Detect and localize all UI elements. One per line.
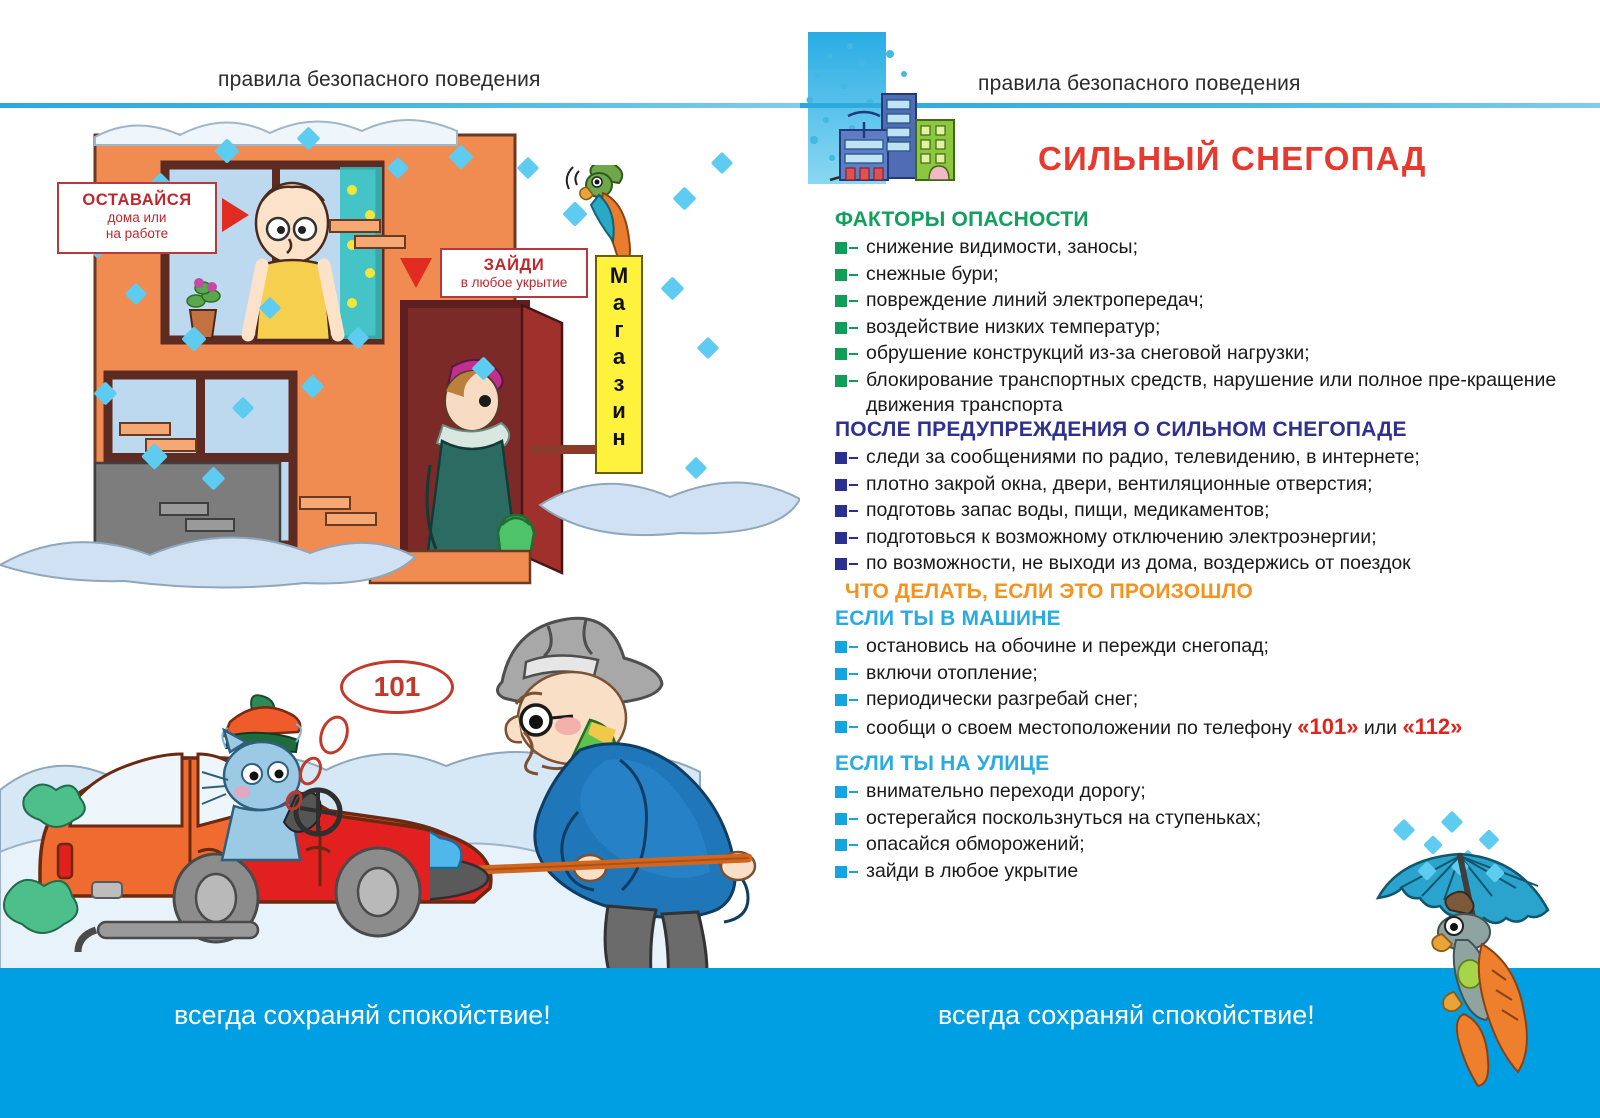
- list-item-text: зайди в любое укрытие: [866, 860, 1078, 882]
- list-item: включи отопление;: [835, 661, 1575, 687]
- man-with-shovel-svg: [430, 600, 800, 1000]
- callout-arrow-down-icon: [400, 258, 432, 288]
- list-item-text: подготовь запас воды, пищи, медикаментов…: [866, 499, 1270, 521]
- list-item-text: включи отопление;: [866, 662, 1038, 684]
- bullet-icon: [835, 694, 847, 706]
- callout-stay-home: ОСТАВАЙСЯ дома или на работе: [57, 182, 217, 254]
- list-item-text: воздействие низких температур;: [866, 316, 1160, 338]
- list-item: повреждение линий электропередач;: [835, 288, 1575, 314]
- list-item-text: внимательно переходи дорогу;: [866, 780, 1146, 802]
- bullet-dash-icon: [849, 274, 858, 276]
- callout-arrow-right-icon: [222, 198, 249, 232]
- bullet-icon: [835, 668, 847, 680]
- callout-stay-home-line1: ОСТАВАЙСЯ: [71, 191, 203, 210]
- list-item: по возможности, не выходи из дома, возде…: [835, 551, 1575, 577]
- bullet-dash-icon: [849, 353, 858, 355]
- section-danger-factors: ФАКТОРЫ ОПАСНОСТИ снижение видимости, за…: [835, 208, 1575, 420]
- right-page-header: правила безопасного поведения: [978, 72, 1301, 96]
- list-item: обрушение конструкций из-за снеговой наг…: [835, 341, 1575, 367]
- bullet-icon: [835, 786, 847, 798]
- left-footer-banner: [0, 968, 800, 1118]
- bullet-dash-icon: [849, 457, 858, 459]
- bullet-icon: [835, 375, 847, 387]
- list-item-text: повреждение линий электропередач;: [866, 289, 1204, 311]
- shop-sign: Магазин: [595, 255, 643, 474]
- bullet-icon: [835, 813, 847, 825]
- shop-sign-text: Магазин: [606, 263, 633, 452]
- section-what-to-do-heading: ЧТО ДЕЛАТЬ, ЕСЛИ ЭТО ПРОИЗОШЛО: [845, 580, 1575, 604]
- list-item-text: опасайся обморожений;: [866, 833, 1085, 855]
- list-item: воздействие низких температур;: [835, 315, 1575, 341]
- list-item: периодически разгребай снег;: [835, 687, 1575, 713]
- left-footer-text: всегда сохраняй спокойствие!: [174, 1000, 551, 1031]
- callout-enter-shelter: ЗАЙДИ в любое укрытие: [440, 248, 588, 298]
- list-item-text: плотно закрой окна, двери, вентиляционны…: [866, 473, 1373, 495]
- emergency-number-101: «101»: [1297, 714, 1358, 739]
- bullet-icon: [835, 866, 847, 878]
- callout-stay-home-line2: дома или: [71, 210, 203, 226]
- list-item: плотно закрой окна, двери, вентиляционны…: [835, 472, 1575, 498]
- parrot-with-umbrella-icon: [1356, 798, 1586, 1088]
- list-item: подготовь запас воды, пищи, медикаментов…: [835, 498, 1575, 524]
- list-item: остановись на обочине и пережди снегопад…: [835, 634, 1575, 660]
- list-item-text: периодически разгребай снег;: [866, 688, 1138, 710]
- callout-stay-home-line3: на работе: [71, 226, 203, 242]
- list-item-text: обрушение конструкций из-за снеговой наг…: [866, 342, 1310, 364]
- bullet-dash-icon: [849, 871, 858, 873]
- list-item-text: блокирование транспортных средств, наруш…: [866, 369, 1556, 417]
- list-item: блокирование транспортных средств, наруш…: [835, 368, 1575, 419]
- left-page-header: правила безопасного поведения: [218, 68, 541, 92]
- bullet-icon: [835, 532, 847, 544]
- section-after-warning-list: следи за сообщениями по радио, телевиден…: [835, 445, 1575, 577]
- page-title: СИЛЬНЫЙ СНЕГОПАД: [1038, 140, 1427, 178]
- list-item: снежные бури;: [835, 262, 1575, 288]
- list-item-text: снежные бури;: [866, 263, 999, 285]
- section-danger-factors-heading: ФАКТОРЫ ОПАСНОСТИ: [835, 208, 1575, 232]
- list-item-text: подготовься к возможному отключению элек…: [866, 526, 1377, 548]
- bullet-icon: [835, 242, 847, 254]
- bullet-dash-icon: [849, 510, 858, 512]
- list-item: снижение видимости, заносы;: [835, 235, 1575, 261]
- callout-enter-shelter-line1: ЗАЙДИ: [454, 256, 574, 275]
- bullet-dash-icon: [849, 646, 858, 648]
- bullet-dash-icon: [849, 300, 858, 302]
- callout-enter-shelter-line2: в любое укрытие: [454, 275, 574, 291]
- bullet-dash-icon: [849, 726, 858, 728]
- bullet-dash-icon: [849, 380, 858, 382]
- bullet-icon: [835, 269, 847, 281]
- bullet-icon: [835, 348, 847, 360]
- section-danger-factors-list: снижение видимости, заносы; снежные бури…: [835, 235, 1575, 419]
- right-footer-text: всегда сохраняй спокойствие!: [938, 1000, 1315, 1031]
- bullet-icon: [835, 839, 847, 851]
- bullet-dash-icon: [849, 327, 858, 329]
- city-buildings-icon: [824, 78, 964, 193]
- phone-line-middle: или: [1358, 717, 1402, 739]
- list-item-text: остерегайся поскользнуться на ступеньках…: [866, 807, 1261, 829]
- section-on-street-heading: ЕСЛИ ТЫ НА УЛИЦЕ: [835, 752, 1575, 776]
- list-item-text: снижение видимости, заносы;: [866, 236, 1138, 258]
- bullet-dash-icon: [849, 673, 858, 675]
- list-item-text: остановись на обочине и пережди снегопад…: [866, 635, 1269, 657]
- bullet-dash-icon: [849, 537, 858, 539]
- section-after-warning: ПОСЛЕ ПРЕДУПРЕЖДЕНИЯ О СИЛЬНОМ СНЕГОПАДЕ…: [835, 418, 1575, 578]
- bullet-dash-icon: [849, 247, 858, 249]
- section-after-warning-heading: ПОСЛЕ ПРЕДУПРЕЖДЕНИЯ О СИЛЬНОМ СНЕГОПАДЕ: [835, 418, 1575, 442]
- bullet-dash-icon: [849, 484, 858, 486]
- section-in-car-list: остановись на обочине и пережди снегопад…: [835, 634, 1575, 741]
- bullet-icon: [835, 721, 847, 733]
- bullet-icon: [835, 558, 847, 570]
- list-item-phone: сообщи о своем местоположении по телефон…: [835, 714, 1575, 742]
- bullet-icon: [835, 641, 847, 653]
- bullet-icon: [835, 295, 847, 307]
- bullet-icon: [835, 505, 847, 517]
- phone-line-prefix: сообщи о своем местоположении по телефон…: [866, 717, 1297, 739]
- section-what-to-do: ЧТО ДЕЛАТЬ, ЕСЛИ ЭТО ПРОИЗОШЛО ЕСЛИ ТЫ В…: [835, 580, 1575, 742]
- list-item: подготовься к возможному отключению элек…: [835, 525, 1575, 551]
- left-page: правила безопасного поведения: [0, 0, 800, 1118]
- bullet-dash-icon: [849, 844, 858, 846]
- list-item-text: следи за сообщениями по радио, телевиден…: [866, 446, 1420, 468]
- bullet-icon: [835, 479, 847, 491]
- emergency-number-112: «112»: [1402, 714, 1462, 739]
- bullet-icon: [835, 452, 847, 464]
- bullet-dash-icon: [849, 791, 858, 793]
- list-item: следи за сообщениями по радио, телевиден…: [835, 445, 1575, 471]
- right-page: правила безопасного поведения СИЛЬНЫЙ СН…: [800, 0, 1600, 1118]
- section-in-car-subheading: ЕСЛИ ТЫ В МАШИНЕ: [835, 607, 1575, 631]
- bullet-icon: [835, 322, 847, 334]
- bullet-dash-icon: [849, 818, 858, 820]
- bullet-dash-icon: [849, 563, 858, 565]
- speech-bubble-101-text: 101: [374, 671, 421, 703]
- list-item-text: по возможности, не выходи из дома, возде…: [866, 552, 1411, 574]
- bullet-dash-icon: [849, 699, 858, 701]
